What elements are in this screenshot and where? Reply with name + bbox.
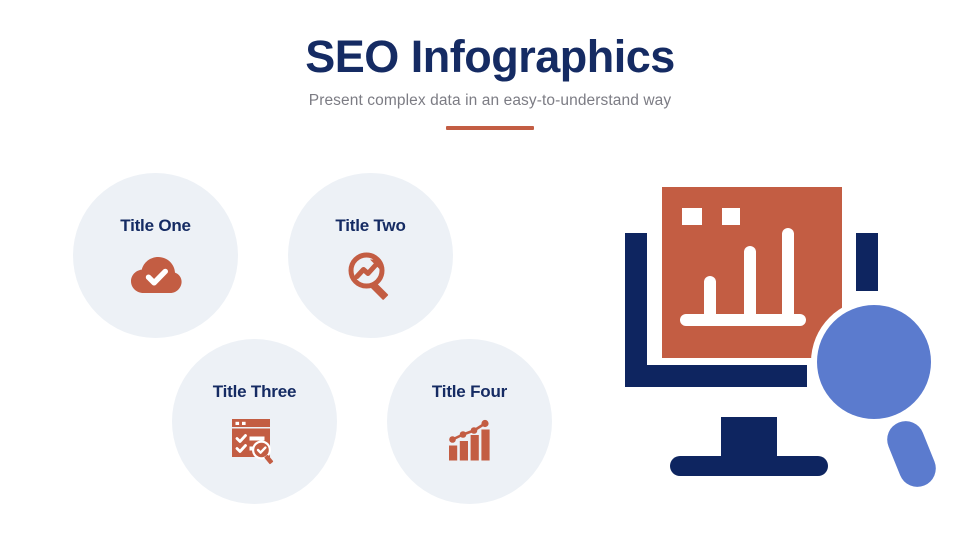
feature-title-two: Title Two	[335, 216, 405, 236]
slide-canvas: SEO Infographics Present complex data in…	[0, 0, 980, 551]
seo-monitor-magnifier-illustration	[600, 168, 968, 498]
cloud-check-icon	[129, 248, 183, 302]
magnifier-handle	[882, 416, 942, 493]
checklist-window-search-icon	[228, 414, 282, 468]
page-subtitle: Present complex data in an easy-to-under…	[0, 92, 980, 110]
magnifier-trend-arrow-icon	[344, 248, 398, 302]
feature-circle-two[interactable]: Title Two	[288, 173, 453, 338]
feature-title-one: Title One	[120, 216, 191, 236]
feature-title-four: Title Four	[432, 382, 507, 402]
page-title: SEO Infographics	[0, 32, 980, 82]
magnifier-lens	[817, 305, 931, 419]
bar-chart-trendline-icon	[443, 414, 497, 468]
monitor-stand	[670, 417, 828, 476]
header: SEO Infographics Present complex data in…	[0, 32, 980, 130]
feature-title-three: Title Three	[213, 382, 296, 402]
feature-circle-one[interactable]: Title One	[73, 173, 238, 338]
feature-circle-three[interactable]: Title Three	[172, 339, 337, 504]
feature-circle-four[interactable]: Title Four	[387, 339, 552, 504]
title-accent-bar	[446, 126, 534, 130]
